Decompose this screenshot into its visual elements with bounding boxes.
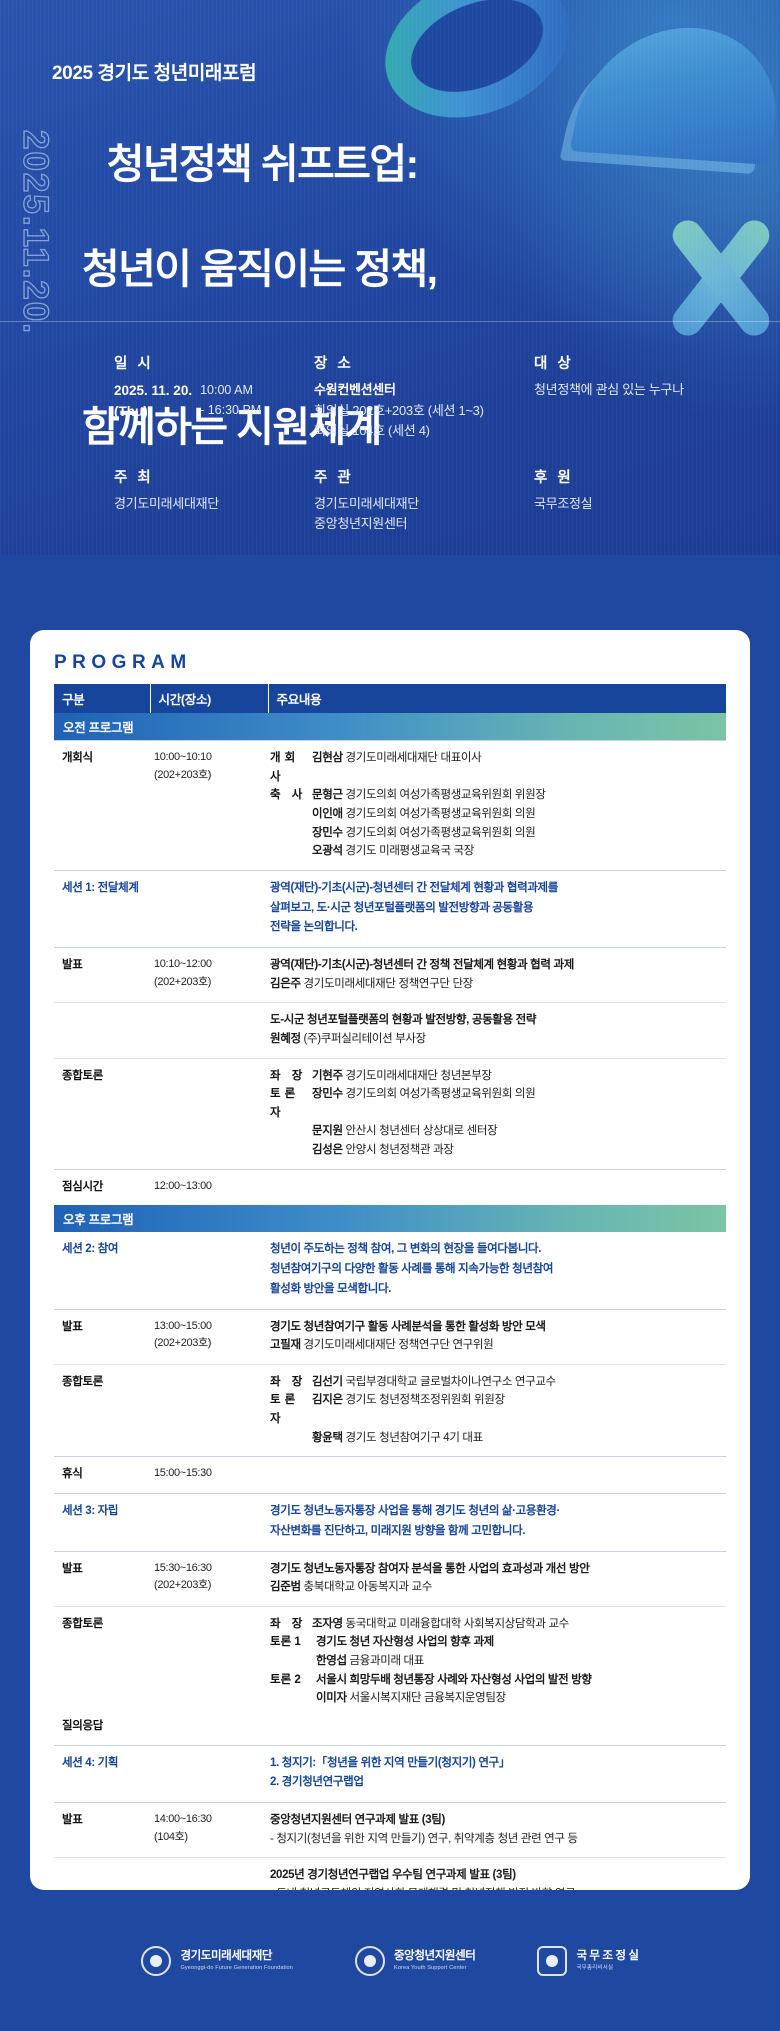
speaker-name: 김지은 — [312, 1394, 343, 1406]
logo-label-ko: 경기도미래세대재단 — [180, 1950, 293, 1963]
speaker-title: 동국대학교 미래융합대학 사회복지상담학과 교수 — [343, 1618, 569, 1630]
row-content: 경기도 청년노동자통장 참여자 분석을 통한 사업의 효과성과 개선 방안 김준… — [268, 1551, 726, 1606]
speaker-role: 토론자 — [270, 1085, 312, 1122]
speaker-info: 장민수 경기도의회 여성가족평생교육위원회 의원 — [312, 1085, 722, 1122]
speaker-line: 고필재 경기도미래세대재단 정책연구단 연구위원 — [270, 1336, 722, 1355]
event-poster: 2025.11.20. 2025 경기도 청년미래포럼 청년정책 쉬프트업: 청… — [0, 0, 780, 2031]
speaker-title: 충북대학교 아동복지과 교수 — [301, 1581, 432, 1593]
row-time — [150, 870, 268, 947]
presentation-title: 도-시군 청년포털플랫폼의 현황과 발전방향, 공동활용 전략 — [270, 1011, 722, 1030]
logo-central-youth-center: 중앙청년지원센터 Korea Youth Support Center — [355, 1946, 475, 1976]
row-category: 점심시간 — [54, 1169, 150, 1205]
speaker-role: 토론자 — [270, 1391, 312, 1428]
info-block-audience: 대 상 청년정책에 관심 있는 누구나 — [534, 352, 774, 442]
session-description: 경기도 청년노동자통장 사업을 통해 경기도 청년의 삶·고용환경· 자산변화를… — [270, 1502, 722, 1542]
speaker-title: 경기도의회 여성가족평생교육위원회 위원장 — [343, 789, 546, 801]
logo-label-ko: 국 무 조 정 실 — [576, 1950, 638, 1963]
program-table: 구분 시간(장소) 주요내용 오전 프로그램 개회식 10:00~10:10 (… — [54, 684, 726, 1890]
info-label-audience: 대 상 — [534, 352, 774, 373]
row-category: 개회식 — [54, 741, 150, 871]
section-band-afternoon-label: 오후 프로그램 — [54, 1205, 726, 1232]
presentation-title: 경기도 청년참여기구 활동 사례분석을 통한 활성화 방안 모색 — [270, 1318, 722, 1337]
speaker-info: 김지은 경기도 청년정책조정위원회 위원장 — [312, 1391, 722, 1428]
speaker-line: 김성은 안양시 청년정책관 과장 — [270, 1141, 722, 1160]
discussion-line: 토론 2 서울시 희망두배 청년통장 사례와 자산형성 사업의 발전 방향 — [270, 1671, 722, 1690]
hero-divider — [0, 321, 780, 322]
section-band-afternoon: 오후 프로그램 — [54, 1205, 726, 1232]
logo-label-en: Korea Youth Support Center — [394, 1965, 475, 1971]
row-time: 13:00~15:00 (202+203호) — [150, 1309, 268, 1364]
speaker-name: 김은주 — [270, 978, 301, 990]
speaker-title: 서울시복지재단 금융복지운영팀장 — [347, 1692, 506, 1704]
event-info-grid: 일 시 2025. 11. 20. (Thu) 10:00 AM - 16:30… — [114, 352, 774, 535]
row-content: 2025년 경기청년연구랩업 우수팀 연구과제 발표 (3팀) - 도내 청년공… — [268, 1858, 726, 1890]
row-category: 질의응답 — [54, 1717, 150, 1745]
row-category: 세션 2: 참여 — [54, 1232, 150, 1309]
row-time — [150, 1003, 268, 1058]
speaker-title: 안양시 청년정책관 과장 — [343, 1144, 454, 1156]
speaker-title: 경기도미래세대재단 정책연구단 연구위원 — [301, 1339, 494, 1351]
table-row: 세션 3: 자립 경기도 청년노동자통장 사업을 통해 경기도 청년의 삶·고용… — [54, 1493, 726, 1551]
table-row: 발표 14:00~16:30 (104호) 중앙청년지원센터 연구과제 발표 (… — [54, 1803, 726, 1858]
info-value-sponsor: 국무조정실 — [534, 494, 774, 515]
presentation-note: - 청지기(청년을 위한 지역 만들기) 연구, 취약계층 청년 관련 연구 등 — [270, 1830, 722, 1849]
logo-label-en: Gyeonggi-do Future Generation Foundation — [180, 1965, 293, 1971]
speaker-title: (주)쿠퍼실리테이션 부사장 — [301, 1033, 426, 1045]
speaker-title: 경기도미래세대재단 대표이사 — [343, 752, 482, 764]
row-category: 휴식 — [54, 1457, 150, 1494]
info-value-organizer: 경기도미래세대재단 중앙청년지원센터 — [314, 494, 534, 535]
speaker-title: 경기도의회 여성가족평생교육위원회 의원 — [343, 808, 536, 820]
info-block-datetime: 일 시 2025. 11. 20. (Thu) 10:00 AM - 16:30… — [114, 352, 314, 442]
row-content — [268, 1717, 726, 1745]
row-content: 도-시군 청년포털플랫폼의 현황과 발전방향, 공동활용 전략 원혜정 (주)쿠… — [268, 1003, 726, 1058]
row-time: 14:00~16:30 (104호) — [150, 1803, 268, 1858]
program-heading: PROGRAM — [54, 652, 726, 674]
speaker-title: 안산시 청년센터 상상대로 센터장 — [343, 1125, 498, 1137]
discussion-line: 토론 1 경기도 청년 자산형성 사업의 향후 과제 — [270, 1633, 722, 1652]
session-description: 1. 청지기:「청년을 위한 지역 만들기(청지기) 연구」 2. 경기청년연구… — [270, 1754, 722, 1794]
info-label-venue: 장 소 — [314, 352, 534, 373]
speaker-info: 김선기 국립부경대학교 글로벌차이나연구소 연구교수 — [312, 1373, 722, 1392]
presentation-title: 2025년 경기청년연구랩업 우수팀 연구과제 발표 (3팀) — [270, 1866, 722, 1885]
row-content: 좌 장 기현주 경기도미래세대재단 청년본부장 토론자 장민수 경기도의회 여성… — [268, 1058, 726, 1169]
speaker-role: 축 사 — [270, 786, 312, 805]
section-band-morning-label: 오전 프로그램 — [54, 713, 726, 741]
row-content: 개회사 김현삼 경기도미래세대재단 대표이사 축 사 문형근 경기도의회 여성가… — [268, 741, 726, 871]
row-category — [54, 1858, 150, 1890]
row-content: 1. 청지기:「청년을 위한 지역 만들기(청지기) 연구」 2. 경기청년연구… — [268, 1745, 726, 1803]
speaker-name: 문형근 — [312, 789, 343, 801]
speaker-name: 장민수 — [312, 1088, 343, 1100]
info-value-time: 10:00 AM - 16:30 PM — [200, 380, 261, 423]
row-content: 광역(재단)-기초(시군)-청년센터 간 전달체계 현황과 협력과제를 살펴보고… — [268, 870, 726, 947]
decorative-cross-shape — [662, 215, 780, 343]
speaker-name: 김성은 — [312, 1144, 343, 1156]
presentation-title: 경기도 청년노동자통장 참여자 분석을 통한 사업의 효과성과 개선 방안 — [270, 1560, 722, 1579]
row-time: 15:30~16:30 (202+203호) — [150, 1551, 268, 1606]
logo-office-for-government-policy: 국 무 조 정 실 국무총리비서실 — [537, 1946, 638, 1976]
title-line-2: 청년이 움직이는 정책, — [48, 243, 436, 295]
info-label-host: 주 최 — [114, 466, 314, 487]
row-content: 청년이 주도하는 정책 참여, 그 변화의 현장을 들여다봅니다. 청년참여기구… — [268, 1232, 726, 1309]
table-row: 세션 2: 참여 청년이 주도하는 정책 참여, 그 변화의 현장을 들여다봅니… — [54, 1232, 726, 1309]
row-time — [150, 1606, 268, 1717]
speaker-name: 김선기 — [312, 1376, 343, 1388]
speaker-title: 경기도 청년정책조정위원회 위원장 — [343, 1394, 505, 1406]
table-row: 종합토론 좌 장 김선기 국립부경대학교 글로벌차이나연구소 연구교수 토론자 … — [54, 1364, 726, 1457]
presentation-title: 중앙청년지원센터 연구과제 발표 (3팀) — [270, 1811, 722, 1830]
table-row: 발표 15:30~16:30 (202+203호) 경기도 청년노동자통장 참여… — [54, 1551, 726, 1606]
logo-label-ko: 중앙청년지원센터 — [394, 1950, 475, 1963]
row-time — [150, 1717, 268, 1745]
row-content: 경기도 청년참여기구 활동 사례분석을 통한 활성화 방안 모색 고필재 경기도… — [268, 1309, 726, 1364]
row-category: 발표 — [54, 1803, 150, 1858]
row-content: 광역(재단)-기초(시군)-청년센터 간 정책 전달체계 현황과 협력 과제 김… — [268, 948, 726, 1003]
speaker-line: 좌 장 김선기 국립부경대학교 글로벌차이나연구소 연구교수 — [270, 1373, 722, 1392]
row-category: 종합토론 — [54, 1364, 150, 1457]
table-row: 세션 1: 전달체계 광역(재단)-기초(시군)-청년센터 간 전달체계 현황과… — [54, 870, 726, 947]
info-label-datetime: 일 시 — [114, 352, 314, 373]
info-block-organizer: 주 관 경기도미래세대재단 중앙청년지원센터 — [314, 466, 534, 535]
speaker-line: 한영섭 금융과미래 대표 — [270, 1652, 722, 1671]
logo-label-en: 국무총리비서실 — [576, 1965, 638, 1971]
speaker-line: 김준범 충북대학교 아동복지과 교수 — [270, 1578, 722, 1597]
column-header-time: 시간(장소) — [150, 684, 268, 713]
speaker-line: 토론자 김지은 경기도 청년정책조정위원회 위원장 — [270, 1391, 722, 1428]
speaker-title: 금융과미래 대표 — [347, 1655, 424, 1667]
info-value-host: 경기도미래세대재단 — [114, 494, 314, 515]
program-card: PROGRAM 구분 시간(장소) 주요내용 오전 프로그램 개회식 10:00… — [30, 630, 750, 1890]
speaker-line: 이인애 경기도의회 여성가족평생교육위원회 의원 — [270, 805, 722, 824]
row-content — [268, 1169, 726, 1205]
row-content — [268, 1457, 726, 1494]
government-emblem-icon — [537, 1946, 567, 1976]
row-category: 세션 4: 기획 — [54, 1745, 150, 1803]
speaker-role: 좌 장 — [270, 1615, 312, 1634]
row-category: 발표 — [54, 1309, 150, 1364]
speaker-name: 원혜정 — [270, 1033, 301, 1045]
logo-gyeonggi-foundation: 경기도미래세대재단 Gyeonggi-do Future Generation … — [141, 1946, 293, 1976]
speaker-line: 문지원 안산시 청년센터 상상대로 센터장 — [270, 1122, 722, 1141]
speaker-info: 조자영 동국대학교 미래융합대학 사회복지상담학과 교수 — [312, 1615, 722, 1634]
info-value-venue-name: 수원컨벤션센터 — [314, 380, 534, 401]
speaker-name: 오광석 — [312, 845, 343, 857]
row-time — [150, 1493, 268, 1551]
speaker-line: 토론자 장민수 경기도의회 여성가족평생교육위원회 의원 — [270, 1085, 722, 1122]
speaker-name: 김준범 — [270, 1581, 301, 1593]
info-label-sponsor: 후 원 — [534, 466, 774, 487]
info-block-sponsor: 후 원 국무조정실 — [534, 466, 774, 535]
speaker-line: 황윤택 경기도 청년참여기구 4기 대표 — [270, 1429, 722, 1448]
session-description: 광역(재단)-기초(시군)-청년센터 간 전달체계 현황과 협력과제를 살펴보고… — [270, 879, 722, 938]
row-time — [150, 1858, 268, 1890]
row-category: 종합토론 — [54, 1058, 150, 1169]
speaker-name: 고필재 — [270, 1339, 301, 1351]
table-row: 점심시간 12:00~13:00 — [54, 1169, 726, 1205]
discussion-title: 서울시 희망두배 청년통장 사례와 자산형성 사업의 발전 방향 — [316, 1671, 722, 1690]
table-row: 발표 13:00~15:00 (202+203호) 경기도 청년참여기구 활동 … — [54, 1309, 726, 1364]
speaker-line: 축 사 문형근 경기도의회 여성가족평생교육위원회 위원장 — [270, 786, 722, 805]
row-content: 좌 장 조자영 동국대학교 미래융합대학 사회복지상담학과 교수 토론 1 경기… — [268, 1606, 726, 1717]
info-value-audience: 청년정책에 관심 있는 누구나 — [534, 380, 774, 401]
speaker-role: 개회사 — [270, 749, 312, 786]
speaker-name: 황윤택 — [312, 1432, 343, 1444]
speaker-name: 이미자 — [316, 1692, 347, 1704]
row-content: 중앙청년지원센터 연구과제 발표 (3팀) - 청지기(청년을 위한 지역 만들… — [268, 1803, 726, 1858]
speaker-title: 경기도미래세대재단 청년본부장 — [343, 1070, 492, 1082]
event-kicker: 2025 경기도 청년미래포럼 — [52, 58, 256, 85]
row-time — [150, 1232, 268, 1309]
row-time — [150, 1745, 268, 1803]
row-time: 10:00~10:10 (202+203호) — [150, 741, 268, 871]
discussion-role: 토론 2 — [270, 1671, 316, 1690]
speaker-line: 김은주 경기도미래세대재단 정책연구단 단장 — [270, 975, 722, 994]
row-content: 좌 장 김선기 국립부경대학교 글로벌차이나연구소 연구교수 토론자 김지은 경… — [268, 1364, 726, 1457]
hero-section: 2025.11.20. 2025 경기도 청년미래포럼 청년정책 쉬프트업: 청… — [0, 0, 780, 555]
table-row: 종합토론 좌 장 기현주 경기도미래세대재단 청년본부장 토론자 장민수 경기도… — [54, 1058, 726, 1169]
speaker-title: 경기도 청년참여기구 4기 대표 — [343, 1432, 483, 1444]
row-category: 종합토론 — [54, 1606, 150, 1717]
row-content: 경기도 청년노동자통장 사업을 통해 경기도 청년의 삶·고용환경· 자산변화를… — [268, 1493, 726, 1551]
decorative-dome-shape — [570, 21, 780, 165]
row-category: 발표 — [54, 948, 150, 1003]
speaker-title: 경기도의회 여성가족평생교육위원회 의원 — [343, 827, 536, 839]
row-time: 12:00~13:00 — [150, 1169, 268, 1205]
speaker-name: 조자영 — [312, 1618, 343, 1630]
discussion-role: 토론 1 — [270, 1633, 316, 1652]
presentation-title: 광역(재단)-기초(시군)-청년센터 간 정책 전달체계 현황과 협력 과제 — [270, 956, 722, 975]
speaker-line: 원혜정 (주)쿠퍼실리테이션 부사장 — [270, 1030, 722, 1049]
speaker-name: 이인애 — [312, 808, 343, 820]
speaker-line: 좌 장 기현주 경기도미래세대재단 청년본부장 — [270, 1067, 722, 1086]
speaker-line: 좌 장 조자영 동국대학교 미래융합대학 사회복지상담학과 교수 — [270, 1615, 722, 1634]
speaker-line: 오광석 경기도 미래평생교육국 국장 — [270, 842, 722, 861]
row-category: 발표 — [54, 1551, 150, 1606]
speaker-line: 장민수 경기도의회 여성가족평생교육위원회 의원 — [270, 824, 722, 843]
info-block-venue: 장 소 수원컨벤션센터 회의실 202호+203호 (세션 1~3) 회의실 1… — [314, 352, 534, 442]
speaker-role: 좌 장 — [270, 1373, 312, 1392]
row-time — [150, 1058, 268, 1169]
table-row: 2025년 경기청년연구랩업 우수팀 연구과제 발표 (3팀) - 도내 청년공… — [54, 1858, 726, 1890]
info-label-organizer: 주 관 — [314, 466, 534, 487]
speaker-line: 이미자 서울시복지재단 금융복지운영팀장 — [270, 1689, 722, 1708]
speaker-title: 경기도의회 여성가족평생교육위원회 의원 — [343, 1088, 536, 1100]
column-header-content: 주요내용 — [268, 684, 726, 713]
table-row: 종합토론 좌 장 조자영 동국대학교 미래융합대학 사회복지상담학과 교수 토론… — [54, 1606, 726, 1717]
speaker-line: 개회사 김현삼 경기도미래세대재단 대표이사 — [270, 749, 722, 786]
column-header-category: 구분 — [54, 684, 150, 713]
row-category: 세션 3: 자립 — [54, 1493, 150, 1551]
table-header-row: 구분 시간(장소) 주요내용 — [54, 684, 726, 713]
speaker-role: 좌 장 — [270, 1067, 312, 1086]
speaker-name: 김현삼 — [312, 752, 343, 764]
info-value-venue-rooms: 회의실 202호+203호 (세션 1~3) 회의실 104호 (세션 4) — [314, 401, 534, 442]
speaker-info: 김현삼 경기도미래세대재단 대표이사 — [312, 749, 722, 786]
foundation-emblem-icon — [141, 1946, 171, 1976]
speaker-title: 국립부경대학교 글로벌차이나연구소 연구교수 — [343, 1376, 556, 1388]
discussion-title: 경기도 청년 자산형성 사업의 향후 과제 — [316, 1633, 722, 1652]
speaker-name: 기현주 — [312, 1070, 343, 1082]
table-row: 도-시군 청년포털플랫폼의 현황과 발전방향, 공동활용 전략 원혜정 (주)쿠… — [54, 1003, 726, 1058]
title-line-1: 청년정책 쉬프트업: — [107, 141, 418, 187]
speaker-title: 경기도미래세대재단 정책연구단 단장 — [301, 978, 473, 990]
row-time: 10:10~12:00 (202+203호) — [150, 948, 268, 1003]
row-time: 15:00~15:30 — [150, 1457, 268, 1494]
footer-logos: 경기도미래세대재단 Gyeonggi-do Future Generation … — [0, 1890, 780, 2031]
table-row: 개회식 10:00~10:10 (202+203호) 개회사 김현삼 경기도미래… — [54, 741, 726, 871]
speaker-name: 장민수 — [312, 827, 343, 839]
speaker-info: 문형근 경기도의회 여성가족평생교육위원회 위원장 — [312, 786, 722, 805]
row-category — [54, 1003, 150, 1058]
table-row: 발표 10:10~12:00 (202+203호) 광역(재단)-기초(시군)-… — [54, 948, 726, 1003]
table-row: 질의응답 — [54, 1717, 726, 1745]
row-time — [150, 1364, 268, 1457]
speaker-name: 문지원 — [312, 1125, 343, 1137]
info-block-host: 주 최 경기도미래세대재단 — [114, 466, 314, 535]
speaker-info: 기현주 경기도미래세대재단 청년본부장 — [312, 1067, 722, 1086]
section-band-morning: 오전 프로그램 — [54, 713, 726, 741]
row-category: 세션 1: 전달체계 — [54, 870, 150, 947]
table-row: 휴식 15:00~15:30 — [54, 1457, 726, 1494]
session-description: 청년이 주도하는 정책 참여, 그 변화의 현장을 들여다봅니다. 청년참여기구… — [270, 1240, 722, 1299]
info-value-date: 2025. 11. 20. (Thu) — [114, 380, 192, 423]
table-row: 세션 4: 기획 1. 청지기:「청년을 위한 지역 만들기(청지기) 연구」 … — [54, 1745, 726, 1803]
speaker-name: 한영섭 — [316, 1655, 347, 1667]
speaker-title: 경기도 미래평생교육국 국장 — [343, 845, 474, 857]
youth-center-emblem-icon — [355, 1946, 385, 1976]
